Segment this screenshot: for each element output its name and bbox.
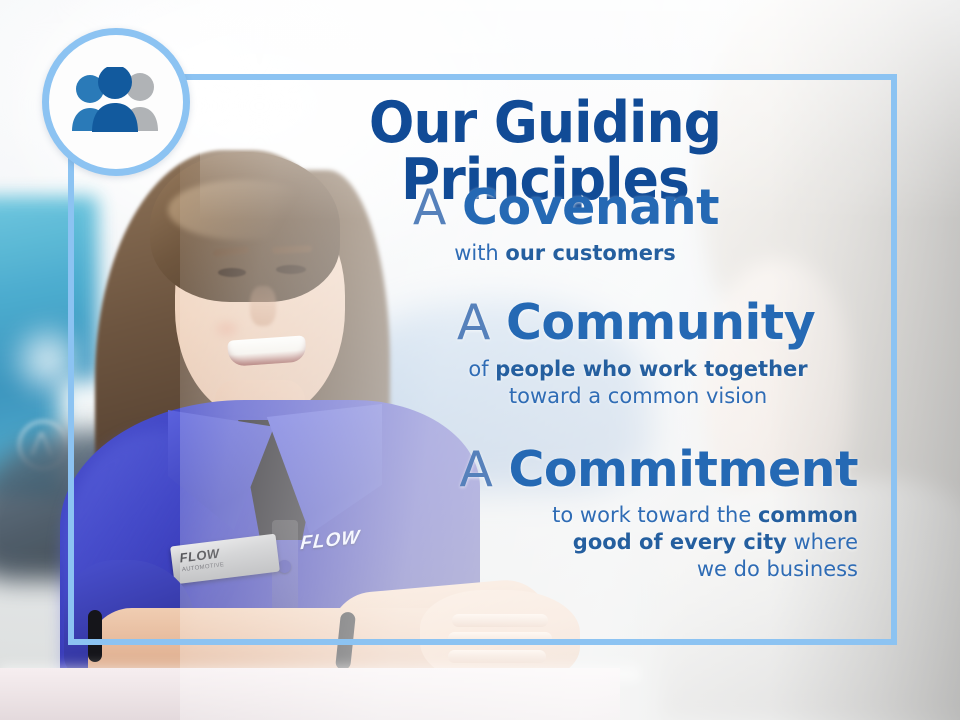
hand-finger [452, 614, 548, 627]
principle-subtext: of people who work together toward a com… [300, 356, 880, 410]
hand-finger [448, 632, 552, 645]
principle-lede: A Community [300, 297, 880, 348]
principle-article: A [457, 294, 491, 351]
principle-article: A [413, 179, 447, 236]
principle-subtext: with our customers [300, 240, 880, 267]
principle-community: A Community of people who work together … [300, 297, 880, 409]
principle-word: Commitment [508, 441, 858, 498]
principle-word: Covenant [462, 179, 719, 236]
subtext-line-bold: good of every city [573, 530, 787, 554]
principle-word: Community [506, 294, 815, 351]
subtext-line-bold: common [758, 503, 858, 527]
principle-article: A [459, 441, 493, 498]
subtext-line-bold: people who work together [495, 357, 807, 381]
principle-lede: A Covenant [300, 182, 880, 233]
subtext-line-bold: our customers [505, 241, 675, 265]
subtext-line: of [468, 357, 495, 381]
subtext-line: to work toward the [552, 503, 758, 527]
shirt-button [278, 560, 291, 573]
people-group-badge [42, 28, 190, 176]
graphic-canvas: FLOW FLOW AUTOMOTIVE [0, 0, 960, 720]
subtext-line: where [787, 530, 858, 554]
principle-lede: A Commitment [300, 444, 858, 495]
white-table-surface [0, 668, 620, 720]
principle-commitment: A Commitment to work toward the commongo… [300, 444, 880, 583]
principles-list: A Covenant with our customers A Communit… [300, 182, 880, 589]
principle-covenant: A Covenant with our customers [300, 182, 880, 267]
subtext-line: with [454, 241, 505, 265]
principle-subtext: to work toward the commongood of every c… [300, 502, 858, 583]
employee-eye-left [218, 268, 246, 277]
subtext-line: toward a common vision [509, 384, 767, 408]
subtext-line: we do business [697, 557, 858, 581]
people-group-icon [64, 67, 168, 137]
employee-nose [250, 286, 276, 326]
wrist-band [88, 610, 102, 662]
